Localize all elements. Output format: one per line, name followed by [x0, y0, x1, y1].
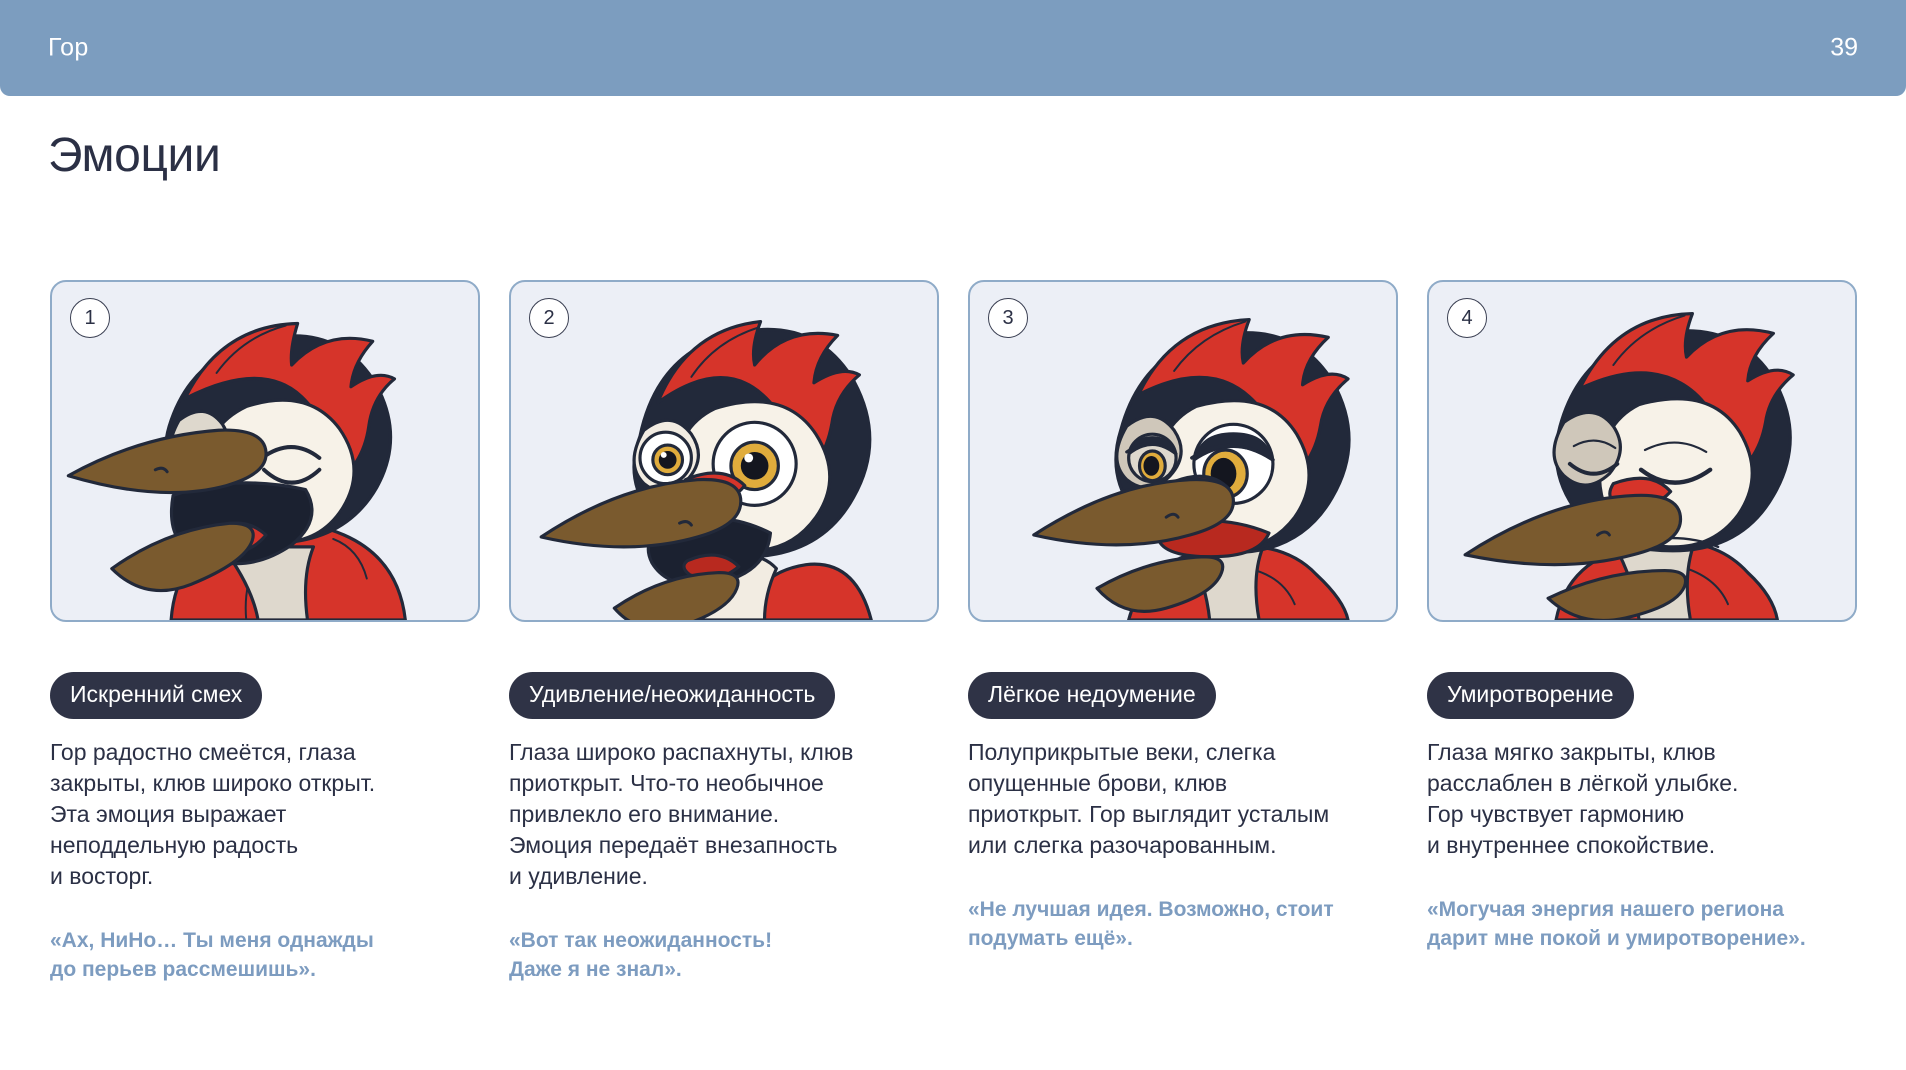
emotion-card: 3 Лёгкое недоумение Полуприкрытые веки, …: [968, 280, 1398, 984]
woodpecker-laughing-icon: [52, 282, 478, 620]
character-illustration-puzzled: 3: [968, 280, 1398, 622]
emotion-label-pill: Лёгкое недоумение: [968, 672, 1216, 719]
page-title: Эмоции: [48, 128, 220, 183]
emotion-quote: «Не лучшая идея. Возможно, стоит подумат…: [968, 895, 1398, 953]
woodpecker-puzzled-icon: [970, 282, 1396, 620]
emotion-description: Глаза мягко закрыты, клюв расслаблен в л…: [1427, 737, 1857, 861]
emotion-description: Гор радостно смеётся, глаза закрыты, клю…: [50, 737, 480, 892]
emotion-quote: «Ах, НиНо… Ты меня однажды до перьев рас…: [50, 926, 480, 984]
emotion-quote: «Могучая энергия нашего региона дарит мн…: [1427, 895, 1857, 953]
card-number-badge: 3: [988, 298, 1028, 338]
card-number-badge: 2: [529, 298, 569, 338]
woodpecker-surprised-icon: [511, 282, 937, 620]
emotion-card: 2 Удивление/неожиданность Глаза широко р…: [509, 280, 939, 984]
character-illustration-surprised: 2: [509, 280, 939, 622]
emotion-card-grid: 1 Искренний смех Гор радостно смеётся, г…: [50, 280, 1856, 984]
card-number-badge: 4: [1447, 298, 1487, 338]
header-bar: Гор 39: [0, 0, 1906, 96]
emotion-card: 1 Искренний смех Гор радостно смеётся, г…: [50, 280, 480, 984]
emotion-label-pill: Искренний смех: [50, 672, 262, 719]
page-number: 39: [1830, 34, 1858, 63]
card-number-badge: 1: [70, 298, 110, 338]
emotion-label-pill: Удивление/неожиданность: [509, 672, 835, 719]
emotion-quote: «Вот так неожиданность! Даже я не знал».: [509, 926, 939, 984]
emotion-card: 4 Умиротворение Глаза мягко закрыты, клю…: [1427, 280, 1857, 984]
slide: Гор 39 Эмоции: [0, 0, 1906, 1070]
emotion-description: Глаза широко распахнуты, клюв приоткрыт.…: [509, 737, 939, 892]
character-illustration-serene: 4: [1427, 280, 1857, 622]
character-illustration-laughing: 1: [50, 280, 480, 622]
emotion-label-pill: Умиротворение: [1427, 672, 1634, 719]
header-label: Гор: [48, 34, 89, 63]
woodpecker-serene-icon: [1429, 282, 1855, 620]
emotion-description: Полуприкрытые веки, слегка опущенные бро…: [968, 737, 1398, 861]
